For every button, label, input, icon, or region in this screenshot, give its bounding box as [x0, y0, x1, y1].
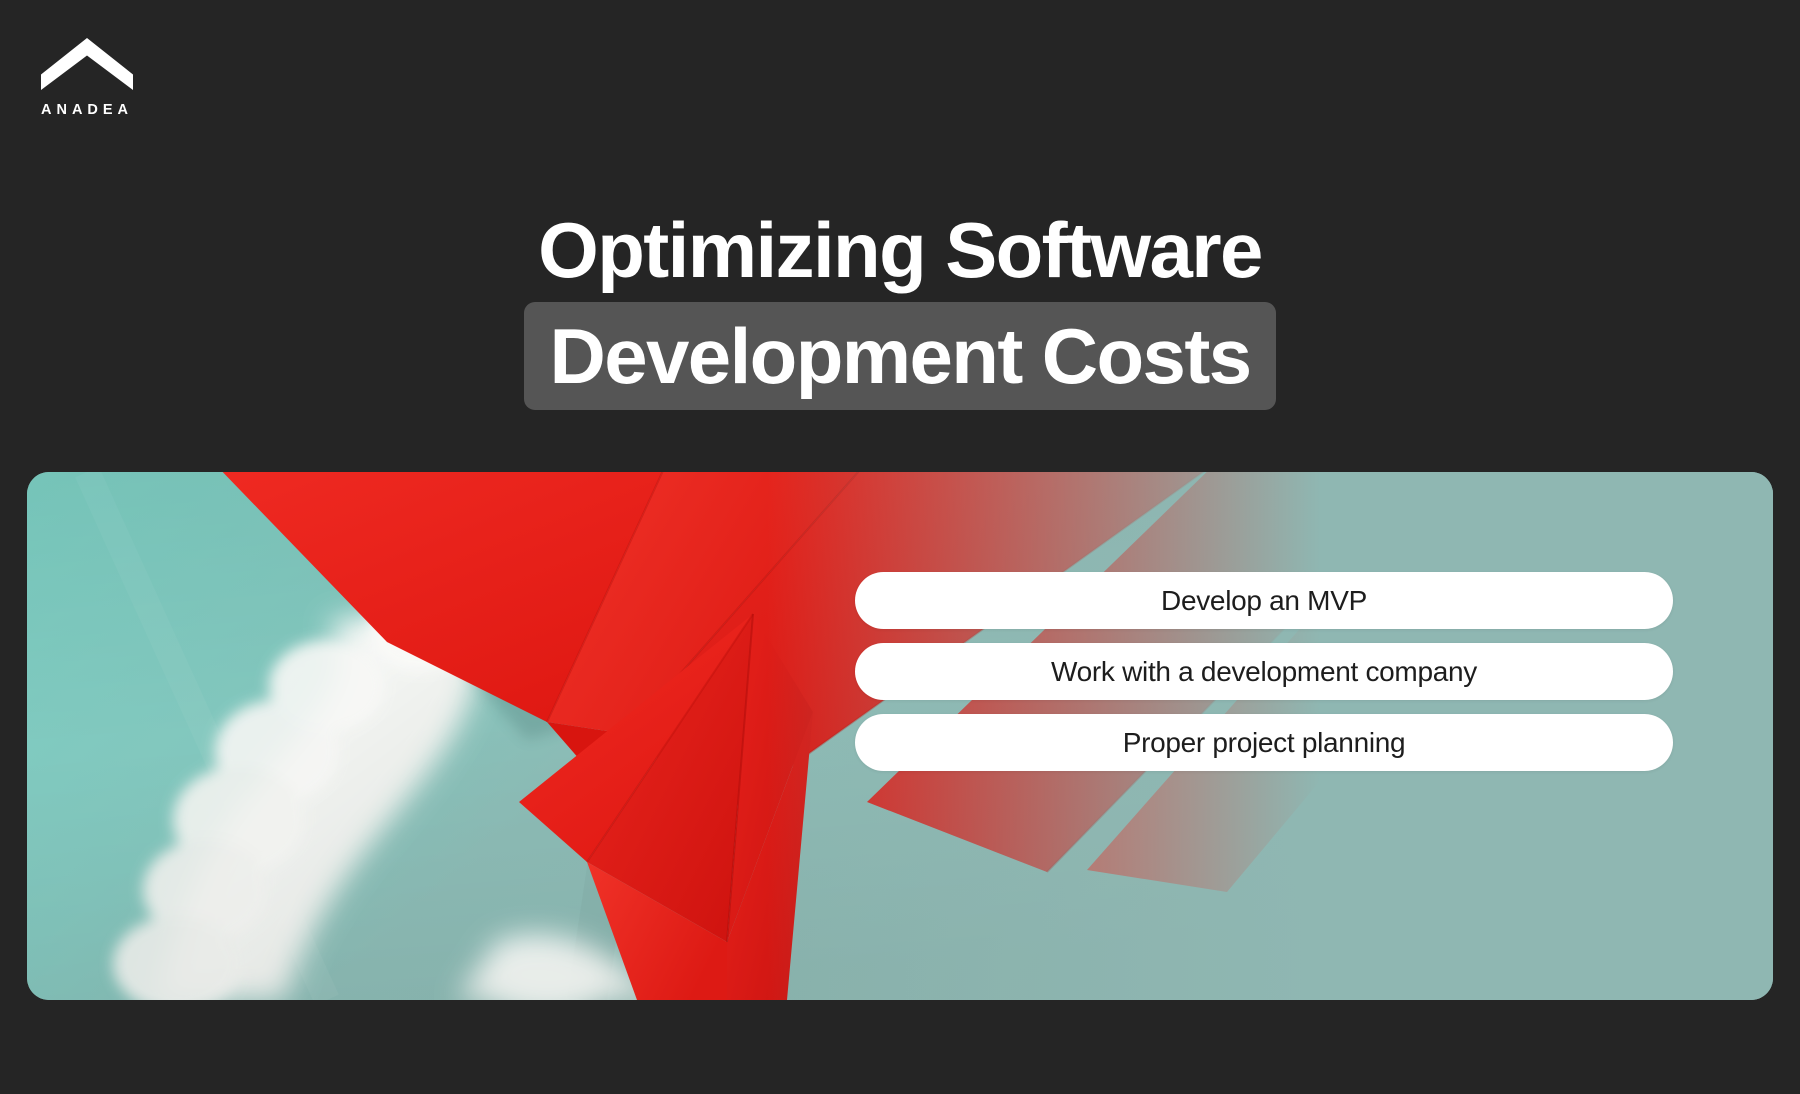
pill-develop-an-mvp[interactable]: Develop an MVP — [855, 572, 1673, 629]
pill-label: Proper project planning — [1123, 729, 1406, 757]
slide-canvas: ANADEA Optimizing Software Development C… — [0, 0, 1800, 1094]
benefits-pill-list: Develop an MVP Work with a development c… — [855, 572, 1673, 771]
pill-work-with-a-development-company[interactable]: Work with a development company — [855, 643, 1673, 700]
pill-label: Develop an MVP — [1161, 587, 1367, 615]
brand-name: ANADEA — [41, 103, 221, 118]
pill-label: Work with a development company — [1051, 658, 1477, 686]
hero-image-card: Develop an MVP Work with a development c… — [27, 472, 1773, 1000]
brand-logo[interactable]: ANADEA — [41, 38, 221, 118]
chevron-up-logo-icon — [41, 38, 133, 90]
pill-proper-project-planning[interactable]: Proper project planning — [855, 714, 1673, 771]
title-line-2-highlighted: Development Costs — [524, 302, 1277, 410]
page-title: Optimizing Software Development Costs — [0, 196, 1800, 410]
title-line-1: Optimizing Software — [0, 196, 1800, 304]
